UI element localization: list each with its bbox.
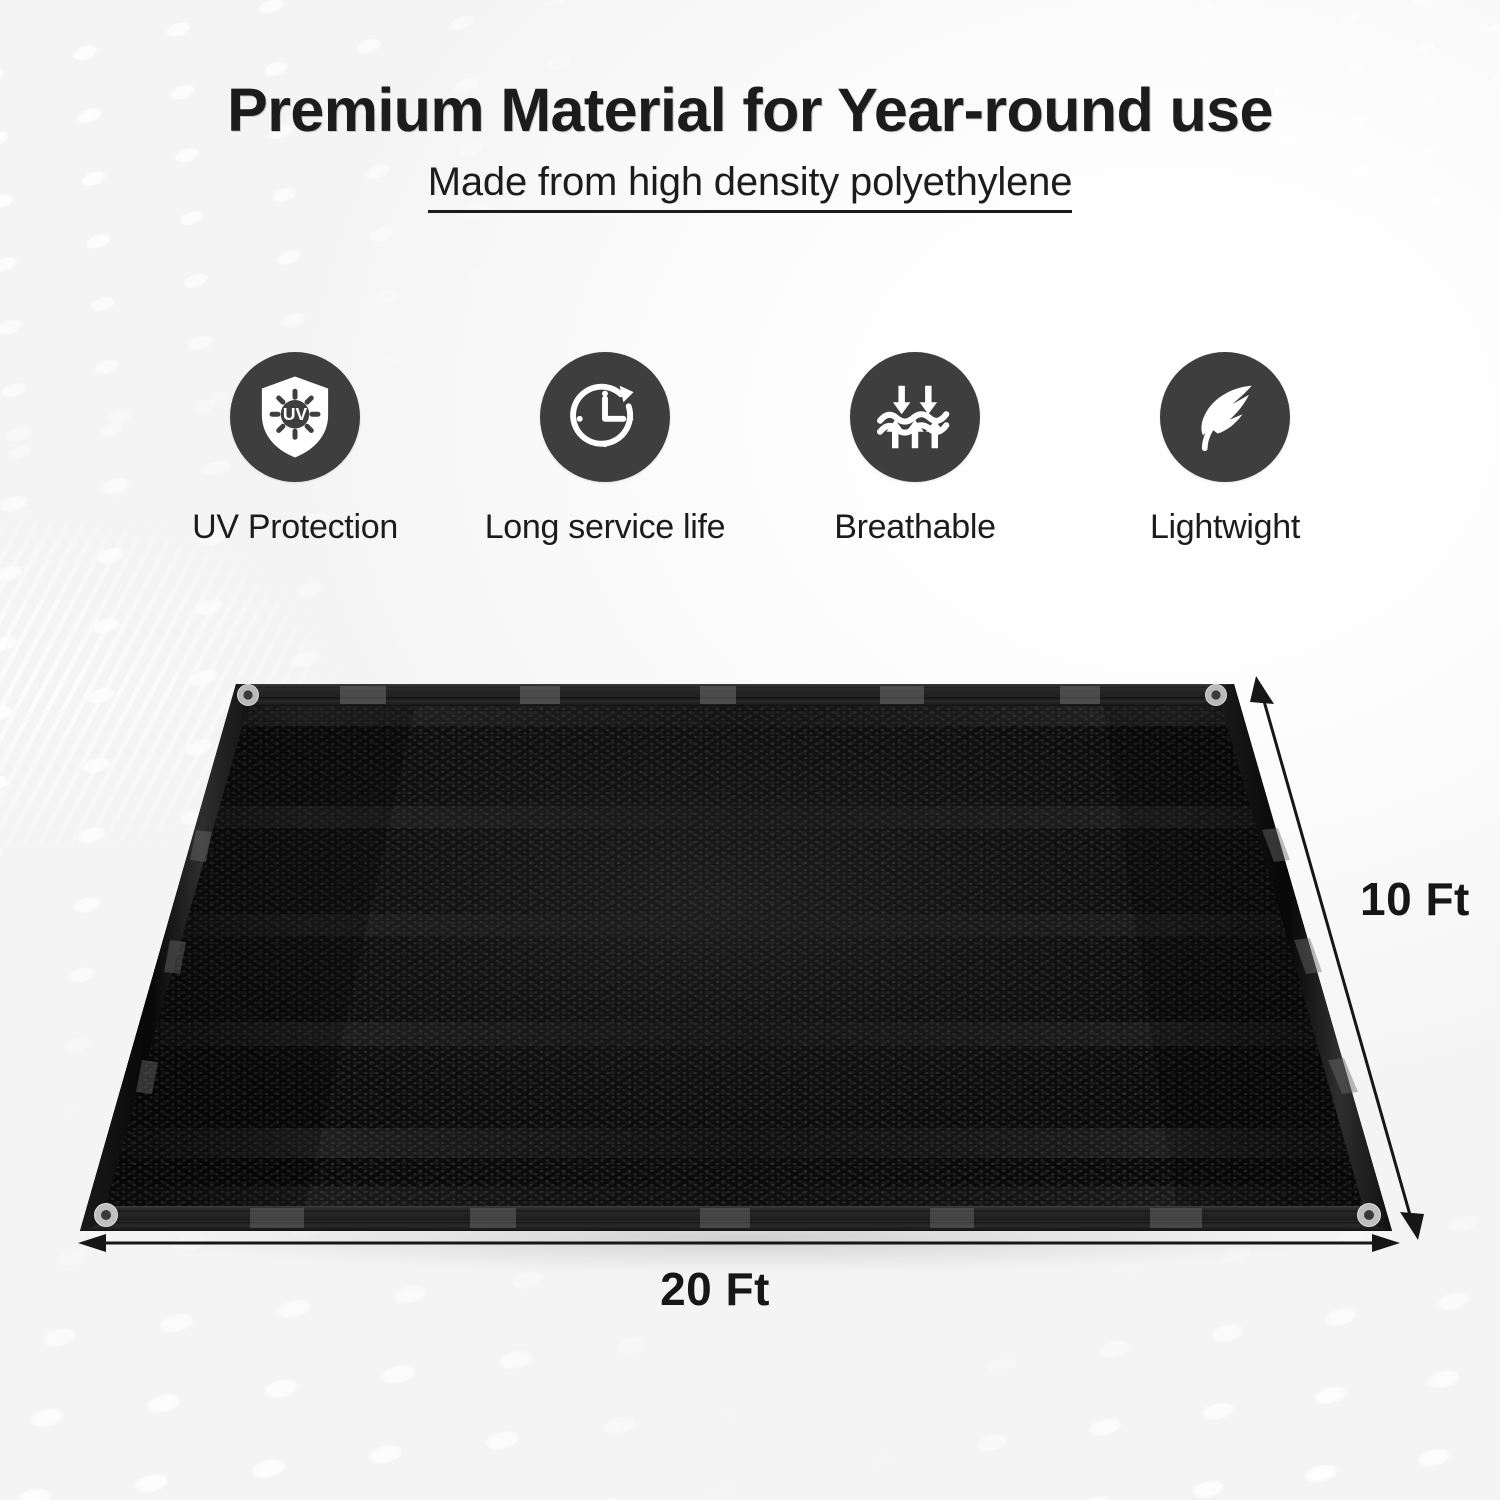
dimension-label-width: 20 Ft [0,1262,1430,1316]
header: Premium Material for Year-round use Made… [0,78,1500,213]
airflow-waves-icon [850,352,980,482]
feature-label-uv-protection: UV Protection [192,508,398,547]
clock-arrow-icon [540,352,670,482]
grommet-bottom-right [1357,1203,1381,1227]
svg-text:UV: UV [283,404,308,424]
feature-item-uv-protection: UV UV Protection [150,352,440,547]
feature-item-lightwight: Lightwight [1080,352,1370,547]
grommet-top-left [237,684,259,706]
feather-icon [1160,352,1290,482]
background-streak-texture [0,520,620,850]
feature-item-long-service-life: Long service life [460,352,750,547]
dimension-label-height: 10 Ft [1360,872,1470,926]
page-subtitle-wrap: Made from high density polyethylene [0,160,1500,213]
feature-label-long-service-life: Long service life [485,508,726,547]
page-subtitle: Made from high density polyethylene [428,160,1073,213]
background-dot-pattern-bottom-left [0,971,947,1500]
uv-shield-icon: UV [230,352,360,482]
infographic-page: Premium Material for Year-round use Made… [0,0,1500,1500]
tarp-body [60,670,1420,1250]
feature-item-breathable: Breathable [770,352,1060,547]
page-title: Premium Material for Year-round use [0,78,1500,142]
dimension-line-width [78,1234,1400,1252]
grommet-top-right [1205,684,1227,706]
feature-list: UV UV Protection [150,352,1370,547]
dimension-line-height [1250,676,1424,1240]
feature-label-lightwight: Lightwight [1150,508,1300,547]
background-dot-pattern-bottom-right [709,1021,1500,1500]
feature-label-breathable: Breathable [834,508,995,547]
grommet-bottom-left [94,1203,118,1227]
